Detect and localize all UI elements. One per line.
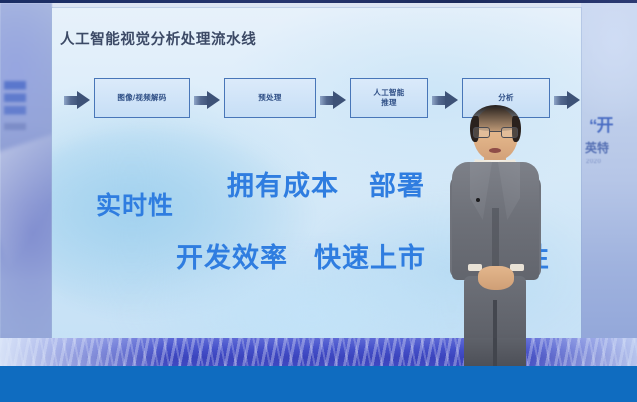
banner-ghost-text (4, 81, 26, 151)
bottom-blue-bar (0, 366, 637, 402)
presenter-hands (478, 266, 514, 290)
keyword-realtime: 实时性 (96, 186, 174, 222)
arrow-right-icon (194, 91, 220, 110)
flow-step-label: 图像/视频解码 (117, 93, 166, 103)
flow-step-label-line1: 人工智能 (373, 88, 404, 97)
side-banner-left (0, 3, 52, 369)
banner-slogan-subtext: 2020 (586, 159, 601, 165)
flow-step-preprocess[interactable]: 预处理 (224, 78, 316, 118)
video-frame: “开 英特 2020 人工智能视觉分析处理流水线 图像/视频解码 预处理 (0, 0, 637, 402)
keyword-tco: 拥有成本 (227, 164, 339, 203)
arrow-right-icon (320, 91, 346, 110)
keyword-deployment: 部署 (369, 164, 425, 203)
banner-slogan-text: 英特 (585, 139, 609, 156)
banner-quote-text: “开 (589, 111, 613, 136)
flow-step-inference[interactable]: 人工智能 推理 (350, 78, 428, 118)
presenter-figure (440, 104, 550, 370)
flow-step-decode[interactable]: 图像/视频解码 (94, 78, 190, 118)
flow-step-label-line2: 推理 (381, 98, 397, 107)
band-fade-left (0, 338, 170, 366)
lapel-microphone-icon (476, 198, 480, 202)
frame-top-strip (0, 0, 637, 3)
arrow-right-icon (64, 91, 90, 110)
eyeglasses-icon (473, 127, 518, 138)
arrow-right-icon (554, 91, 580, 110)
side-banner-right: “开 英特 2020 (581, 3, 637, 369)
stage-decorative-band (0, 338, 637, 366)
flow-step-label: 分析 (498, 93, 514, 103)
presenter-legs-over-band (464, 338, 526, 366)
flow-step-label: 预处理 (258, 93, 281, 103)
flow-step-label: 人工智能 推理 (373, 88, 404, 108)
keyword-dev-efficiency: 开发效率 (176, 236, 288, 275)
keyword-time-to-market: 快速上市 (314, 236, 426, 275)
slide-title: 人工智能视觉分析处理流水线 (60, 28, 256, 49)
presenter-mouth (489, 148, 501, 153)
band-fade-right (517, 338, 637, 366)
